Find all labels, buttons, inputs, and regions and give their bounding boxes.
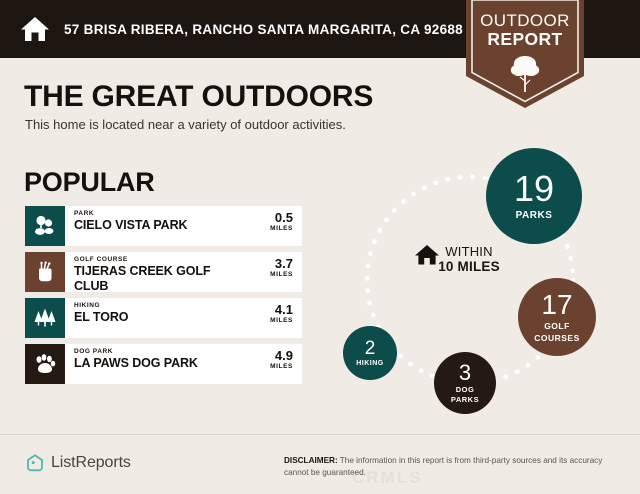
distance-unit: MILES [250, 271, 293, 278]
paw-icon [25, 344, 65, 384]
list-item-distance: 4.1 MILES [250, 298, 302, 338]
list-item-category: HIKING [74, 302, 244, 309]
bubble-parks: 19 PARKS [486, 148, 582, 244]
pine-trees-icon [25, 298, 65, 338]
list-item-name: TIJERAS CREEK GOLF CLUB [74, 264, 244, 292]
bubble-label-line-1: DOG [456, 386, 475, 394]
list-item-category: GOLF COURSE [74, 256, 244, 263]
list-item-category: PARK [74, 210, 244, 217]
list-item-name: CIELO VISTA PARK [74, 218, 244, 232]
page-title: THE GREAT OUTDOORS [24, 80, 373, 114]
diagram-center: WITHIN 10 MILES [414, 244, 524, 274]
list-item-distance: 4.9 MILES [250, 344, 302, 384]
list-item-category: DOG PARK [74, 348, 244, 355]
bubble-value: 19 [514, 171, 554, 207]
listreports-logo[interactable]: ListReports [25, 453, 131, 473]
bubble-label: HIKING [356, 360, 384, 368]
popular-heading: POPULAR [24, 167, 155, 198]
outdoor-counts-diagram: 19 PARKS 17 GOLF COURSES 3 DOG PARKS 2 H… [336, 146, 634, 434]
list-item-distance: 0.5 MILES [250, 206, 302, 246]
popular-list: PARK CIELO VISTA PARK 0.5 MILES GOLF COU… [25, 206, 302, 390]
list-item-body: GOLF COURSE TIJERAS CREEK GOLF CLUB [65, 252, 250, 292]
page-subtitle: This home is located near a variety of o… [25, 117, 346, 132]
list-item[interactable]: DOG PARK LA PAWS DOG PARK 4.9 MILES [25, 344, 302, 384]
list-item[interactable]: PARK CIELO VISTA PARK 0.5 MILES [25, 206, 302, 246]
list-item-body: HIKING EL TORO [65, 298, 250, 338]
listreports-house-tag-icon [25, 453, 45, 473]
bubble-hiking: 2 HIKING [343, 326, 397, 380]
bubble-label-line-2: COURSES [534, 334, 580, 343]
list-item-name: EL TORO [74, 310, 244, 324]
park-icon [25, 206, 65, 246]
disclaimer: DISCLAIMER: The information in this repo… [284, 455, 620, 480]
list-item-distance: 3.7 MILES [250, 252, 302, 292]
home-icon [18, 12, 52, 46]
bubble-golf-courses: 17 GOLF COURSES [518, 278, 596, 356]
bubble-dog-parks: 3 DOG PARKS [434, 352, 496, 414]
golf-bag-icon [25, 252, 65, 292]
distance-value: 3.7 [250, 257, 293, 271]
distance-value: 4.1 [250, 303, 293, 317]
list-item-body: PARK CIELO VISTA PARK [65, 206, 250, 246]
bubble-label-line-1: GOLF [544, 322, 570, 331]
distance-value: 0.5 [250, 211, 293, 225]
distance-value: 4.9 [250, 349, 293, 363]
property-address: 57 BRISA RIBERA, RANCHO SANTA MARGARITA,… [64, 22, 463, 37]
list-item[interactable]: HIKING EL TORO 4.1 MILES [25, 298, 302, 338]
bubble-value: 17 [541, 291, 572, 319]
distance-unit: MILES [250, 225, 293, 232]
disclaimer-label: DISCLAIMER: [284, 456, 338, 465]
list-item[interactable]: GOLF COURSE TIJERAS CREEK GOLF CLUB 3.7 … [25, 252, 302, 292]
bubble-label: PARKS [516, 211, 553, 222]
list-item-name: LA PAWS DOG PARK [74, 356, 244, 370]
bubble-value: 3 [459, 362, 471, 384]
listreports-logo-text: ListReports [51, 454, 131, 472]
bubble-value: 2 [365, 339, 376, 358]
distance-unit: MILES [250, 363, 293, 370]
distance-unit: MILES [250, 317, 293, 324]
outdoor-report-badge: OUTDOOR REPORT [466, 0, 584, 108]
list-item-body: DOG PARK LA PAWS DOG PARK [65, 344, 250, 384]
bubble-label-line-2: PARKS [451, 396, 479, 404]
footer-divider [0, 434, 640, 435]
